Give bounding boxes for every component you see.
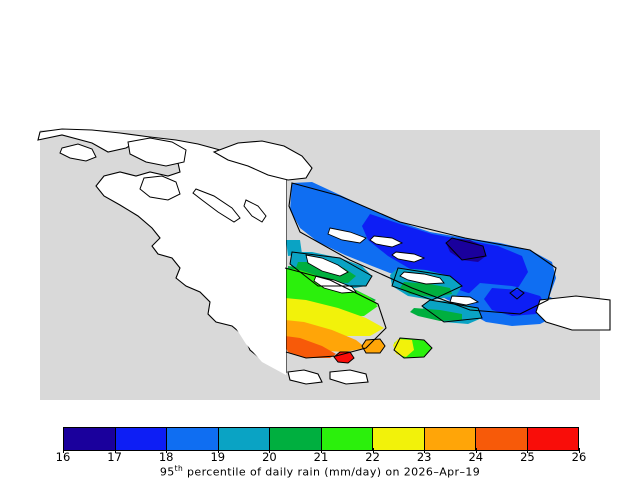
colorbar-segment-17-18 <box>116 428 168 450</box>
colorbar-segment-16-17 <box>64 428 116 450</box>
caption-text: percentile of daily rain (mm/day) on 202… <box>183 466 480 479</box>
colorbar-tick-18: 18 <box>146 450 186 464</box>
colorbar-segment-23-24 <box>425 428 477 450</box>
colorbar-segment-25-26 <box>528 428 579 450</box>
caption-ordinal-suffix: th <box>175 464 184 473</box>
colorbar-tick-22: 22 <box>353 450 393 464</box>
colorbar-tick-19: 19 <box>198 450 238 464</box>
colorbar-tick-20: 20 <box>249 450 289 464</box>
colorbar-segment-21-22 <box>322 428 374 450</box>
colorbar-segment-18-19 <box>167 428 219 450</box>
colorbar-tick-17: 17 <box>95 450 135 464</box>
region-19-20-upper-teal-sliver <box>286 240 302 256</box>
colorbar-tick-21: 21 <box>301 450 341 464</box>
colorbar-segment-22-23 <box>373 428 425 450</box>
colorbar-tick-23: 23 <box>404 450 444 464</box>
weather-map-page: VictoriaWeather.ca —— Winter Total Daily… <box>0 0 640 480</box>
colorbar-segment-20-21 <box>270 428 322 450</box>
colorbar-segment-19-20 <box>219 428 271 450</box>
colorbar-tick-26: 26 <box>559 450 599 464</box>
colorbar-legend: 1617181920212223242526 95th percentile o… <box>0 420 640 480</box>
colorbar-caption: 95th percentile of daily rain (mm/day) o… <box>0 464 640 479</box>
colorbar-tick-16: 16 <box>43 450 83 464</box>
colorbar-tick-24: 24 <box>456 450 496 464</box>
rain-pdf-contour-map <box>0 0 640 420</box>
colorbar-tick-25: 25 <box>507 450 547 464</box>
caption-percentile-number: 95 <box>160 466 175 479</box>
colorbar-segment-24-25 <box>476 428 528 450</box>
colorbar-tick-labels: 1617181920212223242526 <box>0 450 640 464</box>
